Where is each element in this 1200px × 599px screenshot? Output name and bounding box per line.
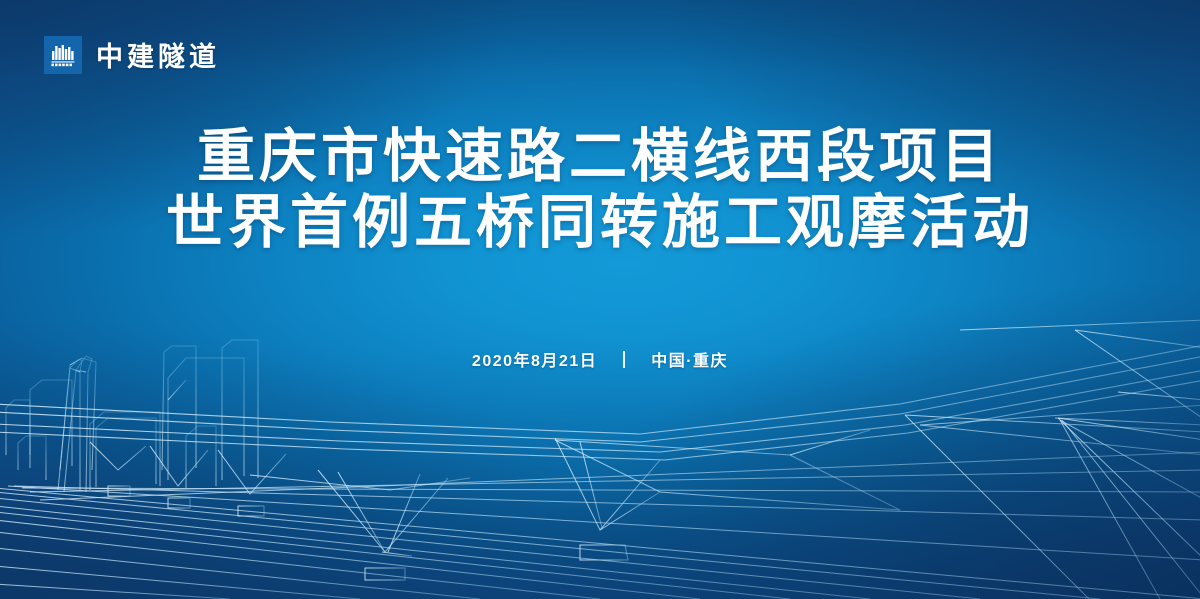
cscec-logo-icon (44, 36, 82, 74)
event-title: 重庆市快速路二横线西段项目 世界首例五桥同转施工观摩活动 (0, 124, 1200, 256)
subtitle-separator (623, 351, 625, 368)
event-date: 2020年8月21日 (472, 347, 597, 371)
company-name: 中建隧道 (96, 35, 220, 74)
title-line-2: 世界首例五桥同转施工观摩活动 (0, 190, 1200, 256)
event-subtitle: 2020年8月21日 中国·重庆 (0, 347, 1200, 371)
event-banner: 中建隧道 重庆市快速路二横线西段项目 世界首例五桥同转施工观摩活动 2020年8… (0, 0, 1200, 599)
brand-logo-bar: 中建隧道 (44, 35, 220, 74)
event-location: 中国·重庆 (651, 347, 728, 371)
background-vertical-shading (0, 0, 1200, 599)
title-line-1: 重庆市快速路二横线西段项目 (0, 124, 1200, 190)
